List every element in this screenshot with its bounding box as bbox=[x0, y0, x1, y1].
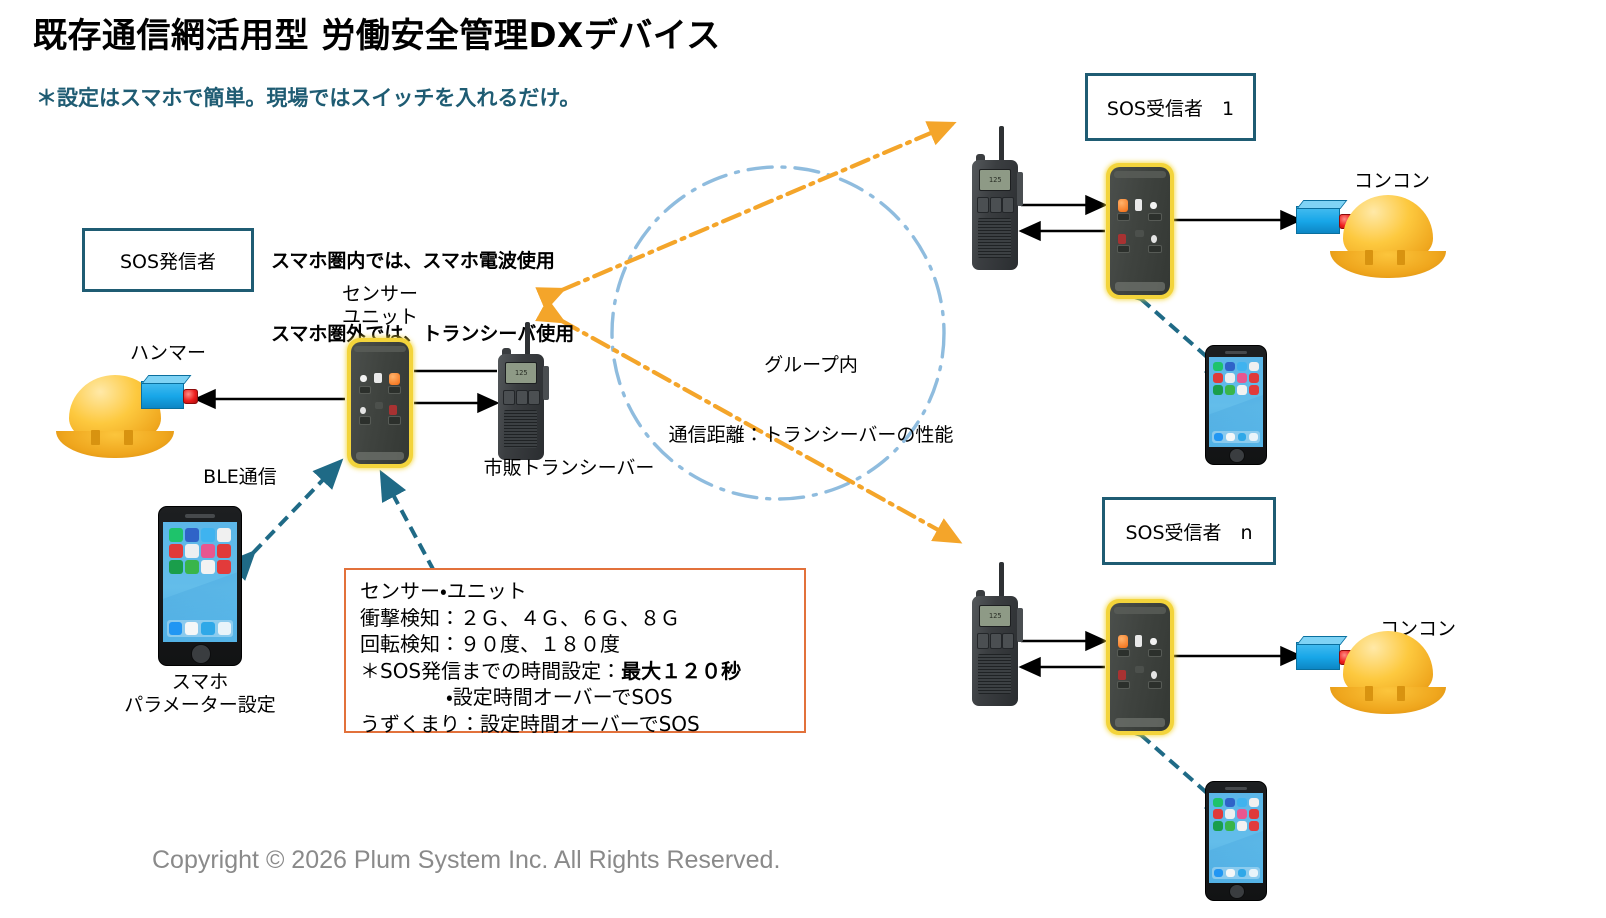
transceiver-device-left: 125 bbox=[490, 322, 554, 462]
dock-icon-messages[interactable] bbox=[185, 622, 198, 635]
app-icon[interactable] bbox=[1213, 798, 1223, 808]
app-icon[interactable] bbox=[1249, 362, 1259, 372]
transceiver-key[interactable] bbox=[528, 390, 540, 405]
app-icon[interactable] bbox=[201, 544, 215, 558]
spec-line-1: センサー・ユニット bbox=[360, 578, 804, 605]
blinker-left bbox=[141, 375, 198, 415]
transceiver-key[interactable] bbox=[990, 197, 1002, 212]
hat-notch bbox=[124, 430, 132, 446]
sensor-led-2 bbox=[1151, 235, 1157, 243]
app-icon[interactable] bbox=[1213, 362, 1223, 372]
transceiver-screen: 125 bbox=[979, 605, 1011, 627]
phone-home-button[interactable] bbox=[1229, 448, 1245, 463]
sensor-spec-box: センサー・ユニット 衝撃検知：２Ｇ、４Ｇ、６Ｇ、８Ｇ 回転検知：９０度、１８０度… bbox=[344, 568, 806, 733]
smartphone-label: スマホ パラメーター設定 bbox=[100, 671, 300, 717]
app-icon[interactable] bbox=[1249, 821, 1259, 831]
phone-screen bbox=[1209, 357, 1264, 447]
sensor-pad bbox=[388, 386, 401, 394]
transceiver-ptt[interactable] bbox=[1017, 608, 1023, 642]
smartphone-label-text: スマホ パラメーター設定 bbox=[124, 671, 275, 716]
phone-dock bbox=[167, 620, 232, 637]
sos-button[interactable] bbox=[1118, 635, 1128, 648]
app-icon[interactable] bbox=[185, 560, 199, 574]
sensor-led-2 bbox=[360, 407, 366, 414]
sensor-red-button[interactable] bbox=[1118, 670, 1125, 680]
sensor-unit-face bbox=[1110, 167, 1170, 295]
sensor-unit-label-text: センサー ユニット bbox=[342, 283, 418, 328]
ble-label: BLE通信 bbox=[188, 466, 292, 489]
sensor-unit-device-top-right bbox=[1106, 163, 1174, 299]
app-icon[interactable] bbox=[217, 528, 231, 542]
hat-brim bbox=[56, 431, 174, 459]
sensor-white-led bbox=[1150, 638, 1157, 646]
sensor-unit-label: センサー ユニット bbox=[325, 283, 435, 329]
sensor-pad bbox=[1117, 681, 1130, 689]
app-icon[interactable] bbox=[1237, 821, 1247, 831]
sensor-unit-top-strip bbox=[354, 346, 405, 352]
sensor-pad bbox=[1148, 245, 1161, 253]
phone-home-button[interactable] bbox=[191, 644, 211, 664]
blinker-top-face bbox=[142, 375, 192, 384]
sensor-unit-face bbox=[1110, 603, 1170, 731]
hat-notch bbox=[1397, 686, 1405, 702]
app-icon[interactable] bbox=[169, 528, 183, 542]
sensor-unit-bottom-strip bbox=[1115, 718, 1165, 727]
sensor-white-led bbox=[360, 375, 366, 382]
spec-line-3: 回転検知：９０度、１８０度 bbox=[360, 631, 804, 658]
dock-icon-messages[interactable] bbox=[1226, 869, 1235, 878]
app-icon[interactable] bbox=[1249, 798, 1259, 808]
sos-button[interactable] bbox=[389, 373, 399, 385]
transceiver-key[interactable] bbox=[977, 633, 989, 648]
copyright-text: Copyright © 2026 Plum System Inc. All Ri… bbox=[152, 846, 780, 875]
app-icon[interactable] bbox=[1225, 362, 1235, 372]
hat-notch bbox=[91, 430, 99, 446]
app-icon[interactable] bbox=[1213, 385, 1223, 395]
app-icon[interactable] bbox=[185, 528, 199, 542]
sensor-pad bbox=[388, 416, 401, 424]
ble-link-spec-sensor bbox=[382, 474, 434, 571]
sensor-pad bbox=[1148, 213, 1161, 221]
group-range-line-1: グループ内 bbox=[646, 354, 976, 377]
transceiver-speaker-grill bbox=[978, 218, 1011, 258]
app-icon[interactable] bbox=[185, 544, 199, 558]
sos-receiver-1-box: SOS受信者 1 bbox=[1085, 73, 1256, 141]
sensor-unit-bottom-strip bbox=[1115, 282, 1165, 291]
sensor-switch[interactable] bbox=[375, 402, 383, 409]
hard-hat-bottom-right bbox=[1330, 624, 1446, 716]
transceiver-screen: 125 bbox=[505, 362, 537, 383]
app-icon[interactable] bbox=[1213, 373, 1223, 383]
sensor-unit-face bbox=[351, 342, 409, 464]
sos-receiver-n-box: SOS受信者 n bbox=[1102, 497, 1276, 565]
transceiver-body: 125 bbox=[972, 160, 1018, 270]
transceiver-key[interactable] bbox=[977, 197, 989, 212]
hat-notch bbox=[1365, 250, 1373, 266]
transceiver-ptt[interactable] bbox=[543, 366, 549, 400]
app-icon[interactable] bbox=[1225, 821, 1235, 831]
transceiver-device-top-right: 125 bbox=[964, 126, 1028, 272]
sensor-unit-device-left bbox=[347, 338, 413, 468]
coverage-note-line-1: スマホ圏内では、スマホ電波使用 bbox=[271, 249, 574, 273]
app-icon[interactable] bbox=[1213, 821, 1223, 831]
sensor-white-led bbox=[1150, 202, 1157, 210]
hat-brim bbox=[1330, 251, 1446, 279]
app-icon[interactable] bbox=[1237, 809, 1247, 819]
spec-line-5: ・設定時間オーバーでSOS bbox=[360, 684, 804, 711]
transceiver-body: 125 bbox=[972, 596, 1018, 706]
smartphone-top-right bbox=[1205, 345, 1267, 465]
app-icon[interactable] bbox=[169, 560, 183, 574]
hat-brim bbox=[1330, 687, 1446, 715]
sensor-pad bbox=[1117, 213, 1130, 221]
app-icon[interactable] bbox=[1249, 373, 1259, 383]
app-icon[interactable] bbox=[169, 544, 183, 558]
smartphone-left bbox=[158, 506, 242, 666]
slide-canvas: 既存通信網活用型 労働安全管理DXデバイス ＊設定はスマホで簡単。現場ではスイッ… bbox=[0, 0, 1606, 918]
hard-hat-top-right bbox=[1330, 188, 1446, 280]
blinker-body bbox=[141, 381, 184, 410]
sos-sender-box: SOS発信者 bbox=[82, 228, 254, 292]
phone-dock bbox=[1212, 867, 1260, 880]
sensor-pad bbox=[1148, 681, 1161, 689]
transceiver-key[interactable] bbox=[1002, 197, 1014, 212]
page-title: 既存通信網活用型 労働安全管理DXデバイス bbox=[33, 8, 721, 57]
sensor-unit-device-bottom-right bbox=[1106, 599, 1174, 735]
app-icon[interactable] bbox=[1249, 385, 1259, 395]
sensor-unit-top-strip bbox=[1114, 171, 1167, 177]
app-icon[interactable] bbox=[1237, 373, 1247, 383]
transceiver-key[interactable] bbox=[516, 390, 528, 405]
sensor-pad bbox=[1117, 245, 1130, 253]
sensor-pad bbox=[359, 416, 371, 424]
phone-home-button[interactable] bbox=[1229, 884, 1245, 899]
transceiver-speaker-grill bbox=[978, 654, 1011, 694]
app-icon[interactable] bbox=[201, 528, 215, 542]
phone-app-grid bbox=[1213, 362, 1259, 396]
spec-line-4-strong: 最大１２０秒 bbox=[621, 659, 741, 683]
app-icon[interactable] bbox=[1225, 798, 1235, 808]
sensor-switch[interactable] bbox=[1135, 666, 1143, 674]
transceiver-label: 市販トランシーバー bbox=[469, 457, 669, 480]
phone-app-grid bbox=[1213, 798, 1259, 832]
app-icon[interactable] bbox=[1237, 362, 1247, 372]
app-icon[interactable] bbox=[1225, 373, 1235, 383]
transceiver-key[interactable] bbox=[503, 390, 515, 405]
sensor-pad bbox=[1148, 649, 1161, 657]
sensor-status-led bbox=[1135, 199, 1143, 211]
sensor-status-led bbox=[374, 373, 382, 384]
spec-line-6: うずくまり：設定時間オーバーでSOS bbox=[360, 711, 804, 738]
app-icon[interactable] bbox=[201, 560, 215, 574]
transceiver-screen: 125 bbox=[979, 169, 1011, 191]
phone-screen bbox=[1209, 793, 1264, 883]
dock-icon-mail[interactable] bbox=[1214, 869, 1223, 878]
transceiver-device-bottom-right: 125 bbox=[964, 562, 1028, 708]
phone-speaker bbox=[1225, 787, 1247, 790]
transceiver-body: 125 bbox=[498, 354, 544, 460]
group-range-line-2: 通信距離：トランシーバーの性能 bbox=[646, 424, 976, 447]
dock-icon-settings[interactable] bbox=[1249, 869, 1258, 878]
dock-icon-phone[interactable] bbox=[201, 622, 214, 635]
sensor-red-button[interactable] bbox=[389, 405, 397, 415]
spec-line-2: 衝撃検知：２Ｇ、４Ｇ、６Ｇ、８Ｇ bbox=[360, 605, 804, 632]
dock-icon-phone[interactable] bbox=[1238, 869, 1247, 878]
app-icon[interactable] bbox=[217, 544, 231, 558]
dock-icon-messages[interactable] bbox=[1226, 433, 1235, 442]
spec-line-4-prefix: ＊SOS発信までの時間設定： bbox=[360, 659, 621, 683]
hat-notch bbox=[1397, 250, 1405, 266]
phone-app-grid bbox=[169, 528, 231, 574]
app-icon[interactable] bbox=[217, 560, 231, 574]
dock-icon-settings[interactable] bbox=[1249, 433, 1258, 442]
transceiver-key[interactable] bbox=[1002, 633, 1014, 648]
sos-sender-label: SOS発信者 bbox=[120, 247, 216, 274]
sensor-pad bbox=[1117, 649, 1130, 657]
hammer-label: ハンマー bbox=[108, 342, 228, 365]
sensor-unit-bottom-strip bbox=[356, 452, 405, 461]
phone-dock bbox=[1212, 431, 1260, 444]
sensor-led-2 bbox=[1151, 671, 1157, 679]
blinker-lamp bbox=[183, 389, 198, 404]
app-icon[interactable] bbox=[1237, 798, 1247, 808]
sensor-pad bbox=[359, 386, 371, 394]
sos-button[interactable] bbox=[1118, 199, 1128, 212]
transceiver-key[interactable] bbox=[990, 633, 1002, 648]
smartphone-bottom-right bbox=[1205, 781, 1267, 901]
transceiver-ptt[interactable] bbox=[1017, 172, 1023, 206]
group-range-note: グループ内 通信距離：トランシーバーの性能 bbox=[646, 308, 976, 493]
sensor-unit-top-strip bbox=[1114, 607, 1167, 613]
dock-icon-mail[interactable] bbox=[169, 622, 182, 635]
sensor-status-led bbox=[1135, 635, 1143, 647]
app-icon[interactable] bbox=[1249, 809, 1259, 819]
spec-line-4: ＊SOS発信までの時間設定：最大１２０秒 bbox=[360, 658, 804, 685]
transceiver-speaker-grill bbox=[504, 410, 537, 448]
dock-icon-mail[interactable] bbox=[1214, 433, 1223, 442]
sensor-switch[interactable] bbox=[1135, 230, 1143, 238]
app-icon[interactable] bbox=[1225, 385, 1235, 395]
phone-speaker bbox=[1225, 351, 1247, 354]
sensor-red-button[interactable] bbox=[1118, 234, 1125, 244]
sos-receiver-n-label: SOS受信者 n bbox=[1125, 518, 1252, 545]
app-icon[interactable] bbox=[1225, 809, 1235, 819]
app-icon[interactable] bbox=[1237, 385, 1247, 395]
page-subtitle: ＊設定はスマホで簡単。現場ではスイッチを入れるだけ。 bbox=[36, 82, 580, 112]
hat-notch bbox=[1365, 686, 1373, 702]
orange-link-receiver-1 bbox=[562, 124, 952, 290]
sos-receiver-1-label: SOS受信者 1 bbox=[1107, 94, 1234, 121]
phone-screen bbox=[163, 522, 237, 642]
phone-speaker bbox=[185, 514, 215, 518]
app-icon[interactable] bbox=[1213, 809, 1223, 819]
dock-icon-settings[interactable] bbox=[218, 622, 231, 635]
dock-icon-phone[interactable] bbox=[1238, 433, 1247, 442]
